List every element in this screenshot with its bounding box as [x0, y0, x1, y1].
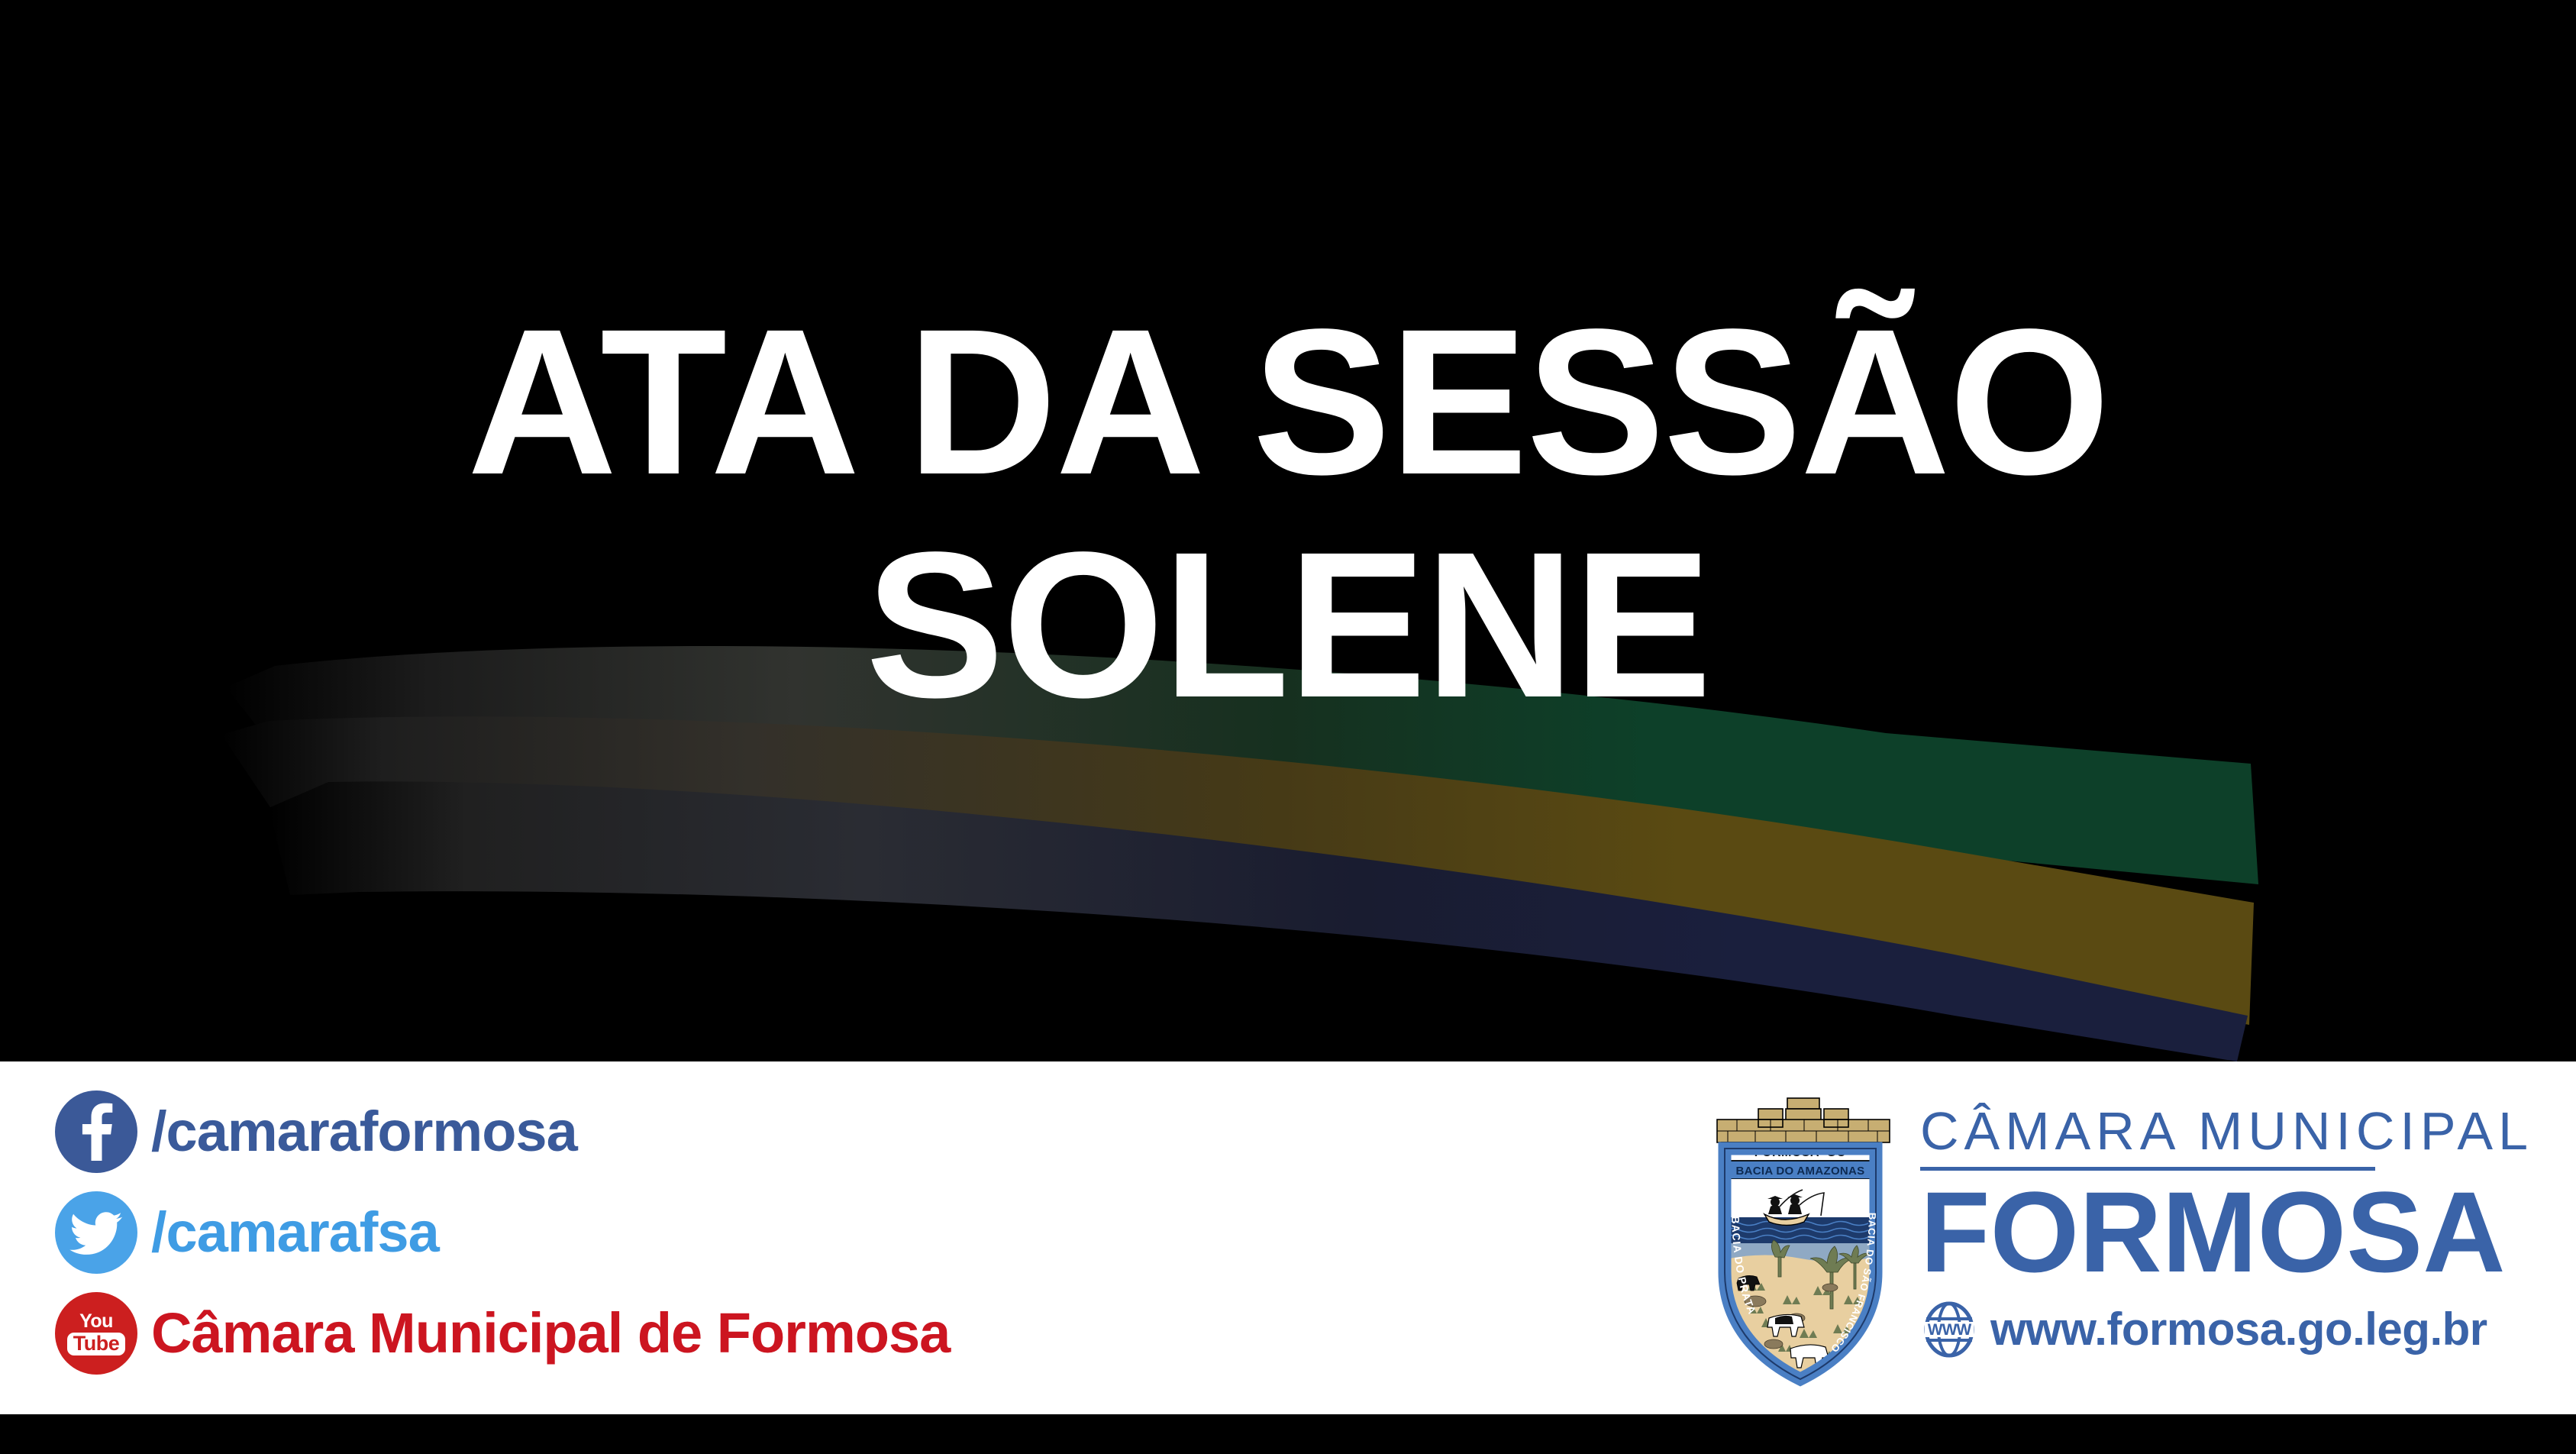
- social-link-twitter[interactable]: /camarafsa: [55, 1182, 1200, 1283]
- bottom-black-bar: [0, 1414, 2576, 1454]
- brand-line-formosa: FORMOSA: [1920, 1174, 2533, 1290]
- slide-title: ATA DA SESSÃO SOLENE: [0, 290, 2576, 736]
- svg-text:WWW: WWW: [1928, 1321, 1972, 1339]
- facebook-handle[interactable]: /camaraformosa: [151, 1103, 577, 1160]
- title-line-1: ATA DA SESSÃO: [0, 290, 2576, 513]
- brand-wordmark: CÂMARA MUNICIPAL FORMOSA WWW www.formosa…: [1920, 1075, 2533, 1359]
- youtube-glyph-you: You: [79, 1312, 113, 1331]
- hero-section: ATA DA SESSÃO SOLENE: [0, 0, 2576, 1061]
- globe-www-icon: WWW: [1920, 1301, 1978, 1359]
- slide-canvas: ATA DA SESSÃO SOLENE /camaraformosa: [0, 0, 2576, 1454]
- youtube-icon[interactable]: You Tube: [55, 1292, 137, 1375]
- website-row[interactable]: WWW www.formosa.go.leg.br: [1920, 1301, 2533, 1359]
- youtube-channel-name[interactable]: Câmara Municipal de Formosa: [151, 1305, 950, 1362]
- youtube-glyph-box: Tube: [67, 1333, 126, 1355]
- website-url[interactable]: www.formosa.go.leg.br: [1990, 1307, 2487, 1352]
- social-link-youtube[interactable]: You Tube Câmara Municipal de Formosa: [55, 1283, 1200, 1384]
- brand-line-camara-municipal: CÂMARA MUNICIPAL: [1920, 1103, 2533, 1159]
- footer-bar: /camaraformosa /camarafsa You Tube: [0, 1061, 2576, 1414]
- title-line-2: SOLENE: [0, 513, 2576, 736]
- youtube-glyph-tube: Tube: [73, 1332, 120, 1355]
- social-link-facebook[interactable]: /camaraformosa: [55, 1081, 1200, 1182]
- facebook-icon[interactable]: [55, 1090, 137, 1173]
- twitter-handle[interactable]: /camarafsa: [151, 1204, 439, 1261]
- brand-lockup: FORMOSA–GO BACIA DO AMAZONAS: [1702, 1075, 2533, 1387]
- twitter-icon[interactable]: [55, 1191, 137, 1274]
- svg-text:BACIA DO AMAZONAS: BACIA DO AMAZONAS: [1735, 1165, 1864, 1178]
- social-links-list: /camaraformosa /camarafsa You Tube: [55, 1081, 1200, 1384]
- coat-of-arms-icon: FORMOSA–GO BACIA DO AMAZONAS: [1702, 1075, 1899, 1387]
